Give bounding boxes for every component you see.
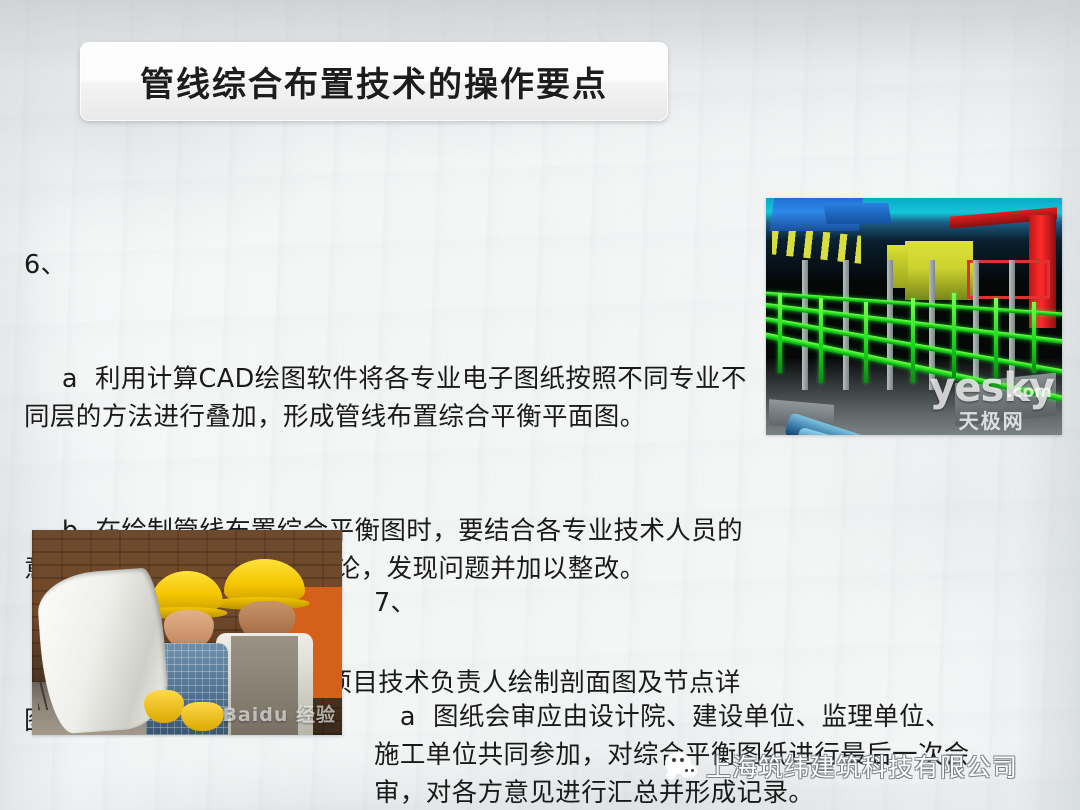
bim-render-content: yesky .com 天极网: [766, 198, 1062, 435]
yellow-glove-1: [144, 690, 184, 723]
bim-green-riser-6: [994, 298, 998, 379]
slide-root: 管线综合布置技术的操作要点 6、 a 利用计算CAD绘图软件将各专业电子图纸按照…: [0, 0, 1080, 810]
page-title: 管线综合布置技术的操作要点: [140, 57, 608, 106]
bim-column-6: [1009, 260, 1015, 390]
bim-green-riser-4: [911, 298, 915, 383]
bim-duct-blue-2: [823, 203, 892, 224]
section-8-block: 8、出图后需按要求提交建设单位及设计、核批准。: [374, 735, 1024, 810]
bim-green-riser-1: [778, 293, 782, 374]
title-plaque: 管线综合布置技术的操作要点: [80, 42, 668, 121]
section-7-marker: 7、: [374, 584, 974, 622]
bim-green-riser-5: [952, 293, 956, 378]
bim-column-3: [887, 260, 893, 390]
bim-green-riser-2: [819, 298, 823, 383]
bim-column-2: [843, 260, 849, 390]
section-6-marker: 6、: [24, 246, 764, 284]
bim-render-image: yesky .com 天极网: [766, 198, 1062, 435]
workers-photo-content: Baidu 经验: [32, 530, 342, 735]
workers-photo-watermark: Baidu 经验: [222, 700, 336, 727]
bim-green-riser-3: [864, 302, 868, 383]
workers-photo-image: Baidu 经验: [32, 530, 342, 735]
bim-green-riser-7: [1032, 302, 1036, 373]
section-6-item-a: a 利用计算CAD绘图软件将各专业电子图纸按照不同专业不同层的方法进行叠加，形成…: [24, 360, 764, 436]
bim-column-5: [973, 260, 979, 390]
bim-yellow-wall-1: [905, 241, 973, 300]
